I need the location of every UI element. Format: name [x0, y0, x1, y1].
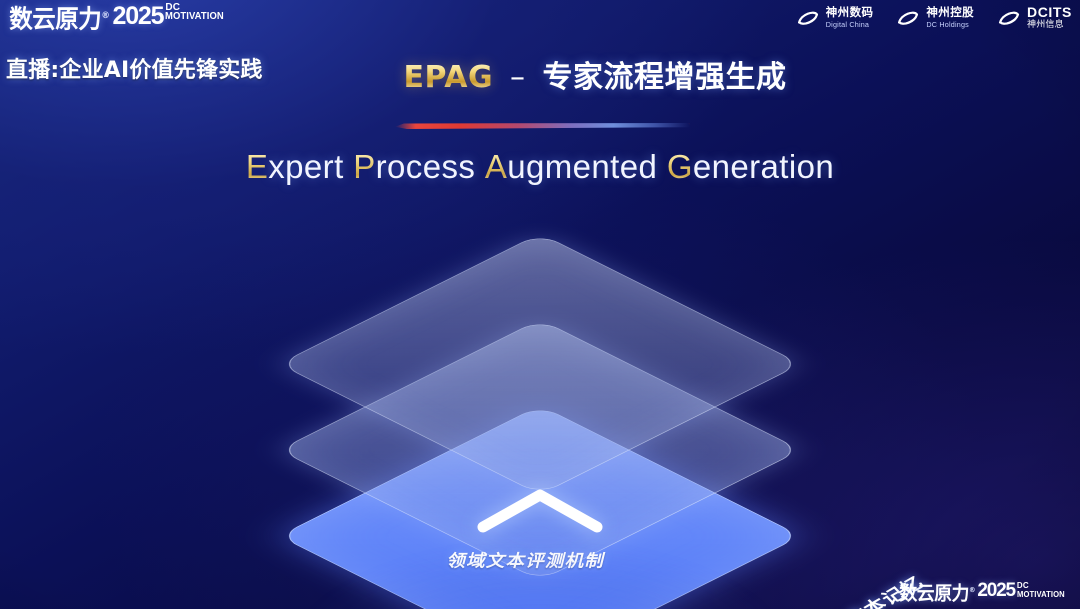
space: [344, 148, 354, 185]
swirl-logo-icon: [795, 5, 821, 31]
subtitle-word-generation: Generation: [667, 148, 834, 185]
title-acronym: EPAG: [404, 60, 494, 95]
partner-name-cn: 神州信息: [1027, 19, 1072, 30]
registered-mark: ®: [101, 11, 109, 21]
partner-logo-dcits: DCITS 神州信息: [996, 5, 1072, 31]
brand-dc-motivation: DC MOTIVATION: [1017, 581, 1070, 599]
partner-name-cn: 神州控股: [926, 7, 974, 18]
slide-title-row: EPAG – 专家流程增强生成: [0, 52, 1080, 96]
partner-logo-group: 神州数码 Digital China 神州控股 DC H: [795, 5, 1072, 31]
brand-name-cn: 数云原力®: [9, 2, 109, 33]
subtitle-expansion: Expert Process Augmented Generation: [0, 148, 1080, 186]
space: [475, 148, 485, 185]
brand-logo-top-left: 数云原力® 2025 DC MOTIVATION: [6, 2, 231, 33]
brand-name-cn: 数云原力®: [899, 580, 975, 604]
partner-name-en: Digital China: [826, 19, 874, 30]
partner-logo-digital-china: 神州数码 Digital China: [795, 5, 874, 31]
slide-canvas: 数云原力® 2025 DC MOTIVATION 直播:企业AI价值先锋实践: [0, 0, 1080, 609]
brand-year: 2025: [113, 2, 164, 30]
partner-name-en: DC Holdings: [926, 19, 974, 30]
subtitle-word-augmented: Augmented: [485, 148, 657, 185]
brand-dc-motivation: DC MOTIVATION: [165, 3, 230, 21]
subtitle-word-expert: Expert: [246, 148, 344, 185]
brand-dc-line2: MOTIVATION: [1017, 590, 1065, 599]
partner-logo-dc-holdings: 神州控股 DC Holdings: [895, 5, 974, 31]
brand-year: 2025: [977, 580, 1014, 601]
page-title: EPAG – 专家流程增强生成: [404, 52, 787, 96]
partner-name-cn: 神州数码: [826, 7, 874, 18]
title-divider: [395, 123, 690, 129]
swirl-logo-icon: [996, 5, 1022, 31]
subtitle-word-process: Process: [353, 148, 475, 185]
isometric-layer-stack: 领域文本评测机制 Dynamic MOE 长文本记忆 三类语义建模模块: [246, 215, 834, 595]
title-chinese: 专家流程增强生成: [542, 60, 786, 95]
space: [657, 148, 667, 185]
brand-logo-bottom-right: 数云原力® 2025 DC MOTIVATION: [897, 580, 1070, 604]
brand-dc-line2: MOTIVATION: [165, 12, 224, 21]
title-dash: –: [510, 60, 526, 95]
swirl-logo-icon: [895, 5, 921, 31]
partner-name-en: DCITS: [1027, 7, 1072, 18]
registered-mark: ®: [969, 586, 975, 594]
